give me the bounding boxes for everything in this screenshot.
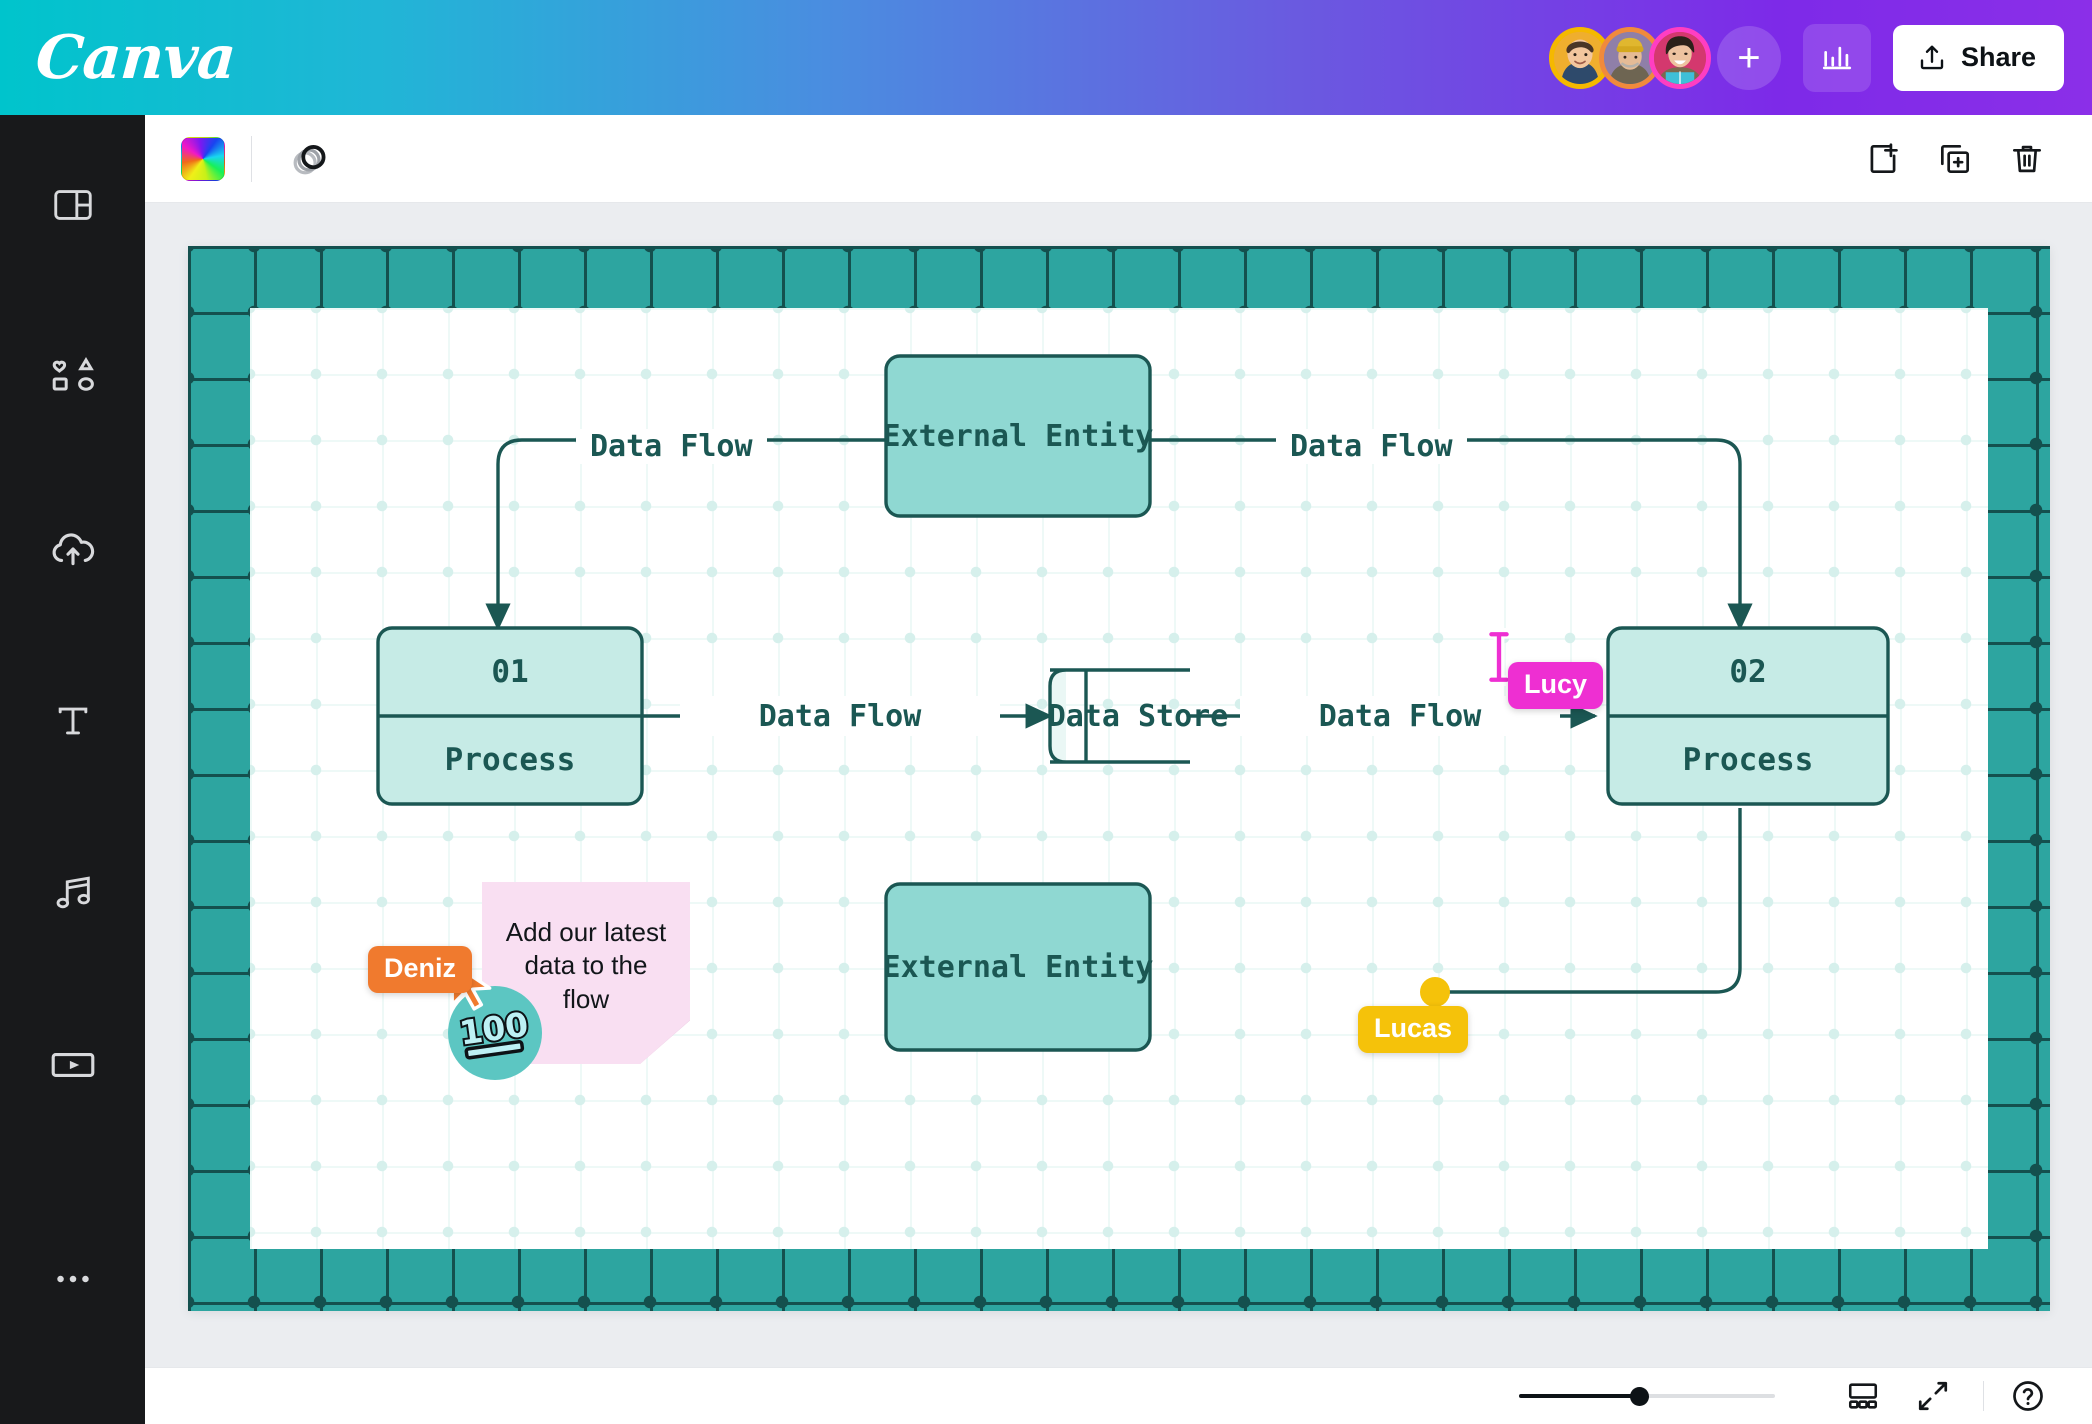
label-external-entity-bottom: External Entity [886,884,1150,1050]
share-button[interactable]: Share [1893,25,2064,91]
canva-logo[interactable]: Canva [34,28,237,88]
label-flow-top-right: Data Flow [1276,429,1467,464]
label-flow-mid-left: Data Flow [680,696,1000,736]
sidebar-item-videos[interactable] [25,1017,121,1113]
label-process-01: Process [378,716,642,804]
add-page-icon[interactable] [1852,128,1914,190]
label-external-entity-top: External Entity [886,356,1150,516]
collaborator-avatars [1549,27,1711,89]
zoom-slider[interactable] [1519,1381,1775,1411]
sidebar-item-design[interactable] [25,157,121,253]
bottom-bar [145,1367,2092,1424]
page-grid-glyph [1846,1379,1880,1413]
label-process-02-number: 02 [1608,628,1888,716]
expand-arrows-glyph [1916,1379,1950,1413]
analytics-icon[interactable] [1803,24,1871,92]
help-question-glyph [2010,1378,2046,1414]
duplicate-page-glyph [1936,140,1974,178]
avatar-face-icon [1654,32,1706,84]
connector-flow-top-right [1150,440,1740,628]
video-play-icon [48,1040,98,1090]
grid-view-icon[interactable] [1835,1368,1891,1424]
transparency-circles-icon [286,136,332,182]
label-process-01-number: 01 [378,628,642,716]
design-page[interactable]: Data Flow Data Flow External Entity 01 P… [188,246,2050,1311]
share-label: Share [1961,42,2036,73]
music-note-icon [50,870,96,916]
upload-icon [1917,43,1947,73]
zoom-knob[interactable] [1630,1387,1649,1406]
sidebar-item-more[interactable] [25,1231,121,1327]
fullscreen-icon[interactable] [1905,1368,1961,1424]
hundred-points-emoji-icon: 100 [458,1006,532,1060]
label-flow-top-left: Data Flow [576,429,767,464]
connector-flow-bottom-right [1438,808,1740,992]
zoom-fill [1519,1394,1639,1398]
cursor-label-deniz: Deniz [368,946,472,993]
bar-chart-icon [1820,41,1854,75]
text-t-icon [51,699,95,743]
toolbar-divider [251,136,252,182]
sidebar-item-audio[interactable] [25,845,121,941]
design-layout-icon [50,182,96,228]
label-process-02: Process [1608,716,1888,804]
editor-toolbar [145,115,2092,203]
bottombar-divider [1983,1381,1984,1411]
cursor-label-lucy: Lucy [1508,662,1603,709]
page-content[interactable]: Data Flow Data Flow External Entity 01 P… [250,308,1988,1249]
cloud-upload-icon [48,524,98,574]
connector-endpoint-handle [1420,977,1450,1007]
help-icon[interactable] [2000,1368,2056,1424]
transparency-icon[interactable] [278,128,340,190]
trash-icon [2008,140,2046,178]
delete-page-icon[interactable] [1996,128,2058,190]
duplicate-page-icon[interactable] [1924,128,1986,190]
left-sidebar [0,115,145,1424]
rainbow-color-swatch[interactable] [181,137,225,181]
top-bar: Canva [0,0,2092,115]
add-collaborator-button[interactable]: + [1717,26,1781,90]
sidebar-item-elements[interactable] [25,329,121,425]
avatar[interactable] [1649,27,1711,89]
topbar-right-group: + Share [1549,24,2064,92]
add-page-glyph [1864,140,1902,178]
cursor-label-lucas: Lucas [1358,1006,1468,1053]
canvas-area[interactable]: Data Flow Data Flow External Entity 01 P… [145,203,2092,1367]
connector-flow-top-left [498,440,886,628]
shapes-elements-icon [49,353,97,401]
label-data-store: Data Store [1086,670,1190,762]
sidebar-item-text[interactable] [25,673,121,769]
more-dots-icon [50,1256,96,1302]
sidebar-item-uploads[interactable] [25,501,121,597]
toolbar-right-group [1852,128,2058,190]
